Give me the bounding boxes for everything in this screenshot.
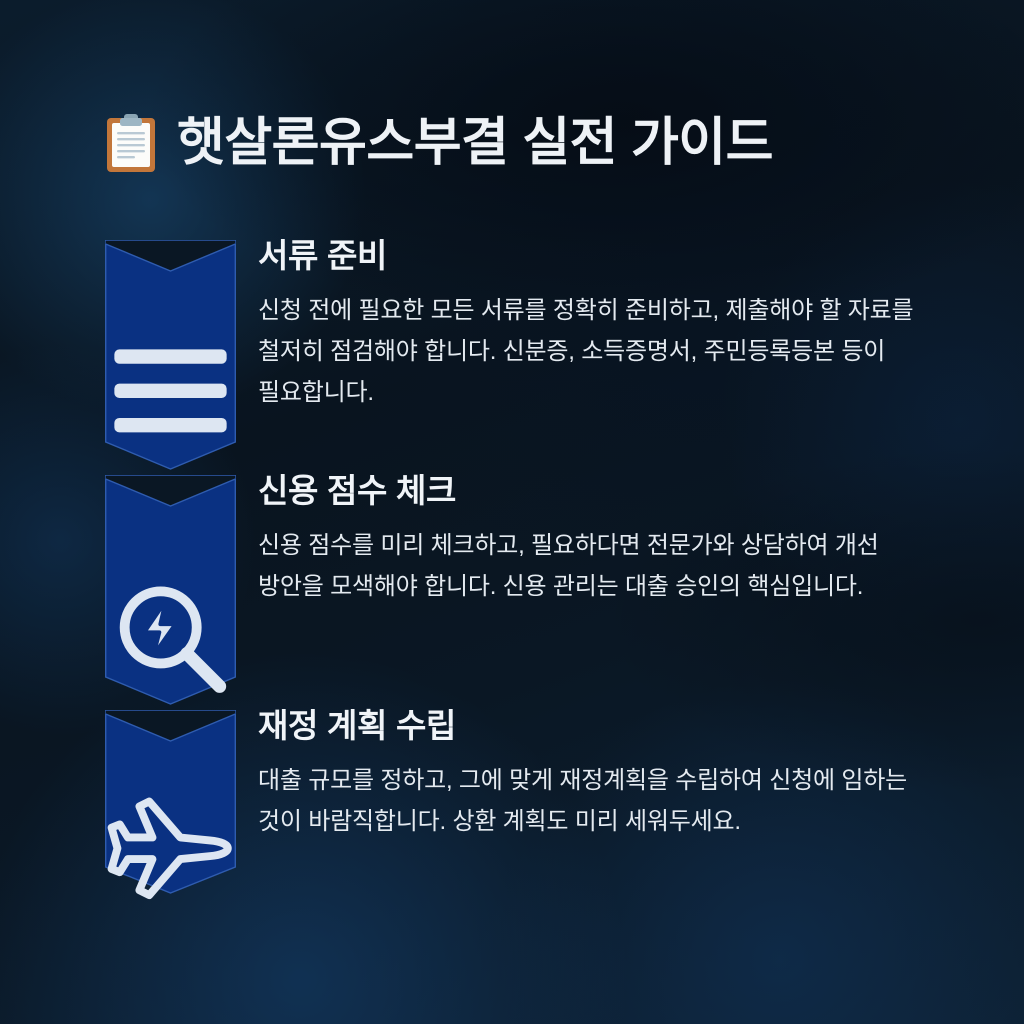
magnifier-bolt-icon: [105, 575, 236, 706]
step-content-3: 재정 계획 수립 대출 규모를 정하고, 그에 맞게 재정계획을 수립하여 신청…: [258, 706, 938, 842]
step-description: 대출 규모를 정하고, 그에 맞게 재정계획을 수립하여 신청에 임하는 것이 …: [258, 760, 938, 842]
step-badge-2: [105, 475, 236, 705]
list-lines-icon: [105, 340, 236, 446]
clipboard-icon: [105, 112, 157, 174]
step-description: 신용 점수를 미리 체크하고, 필요하다면 전문가와 상담하여 개선 방안을 모…: [258, 525, 938, 607]
step-content-2: 신용 점수 체크 신용 점수를 미리 체크하고, 필요하다면 전문가와 상담하여…: [258, 471, 938, 607]
step-badge-3: [105, 710, 236, 894]
step-badge-1: [105, 240, 236, 470]
step-title: 재정 계획 수립: [258, 706, 938, 746]
airplane-icon: [105, 790, 236, 908]
step-content-1: 서류 준비 신청 전에 필요한 모든 서류를 정확히 준비하고, 제출해야 할 …: [258, 236, 938, 413]
page-title: 햇살론유스부결 실전 가이드: [177, 117, 773, 169]
page-header: 햇살론유스부결 실전 가이드: [105, 112, 773, 174]
step-item: 재정 계획 수립 대출 규모를 정하고, 그에 맞게 재정계획을 수립하여 신청…: [0, 706, 1024, 894]
step-description: 신청 전에 필요한 모든 서류를 정확히 준비하고, 제출해야 할 자료를 철저…: [258, 290, 938, 413]
steps-list: 서류 준비 신청 전에 필요한 모든 서류를 정확히 준비하고, 제출해야 할 …: [0, 236, 1024, 894]
step-title: 신용 점수 체크: [258, 471, 938, 511]
step-item: 서류 준비 신청 전에 필요한 모든 서류를 정확히 준비하고, 제출해야 할 …: [0, 236, 1024, 471]
step-item: 신용 점수 체크 신용 점수를 미리 체크하고, 필요하다면 전문가와 상담하여…: [0, 471, 1024, 706]
step-title: 서류 준비: [258, 236, 938, 276]
